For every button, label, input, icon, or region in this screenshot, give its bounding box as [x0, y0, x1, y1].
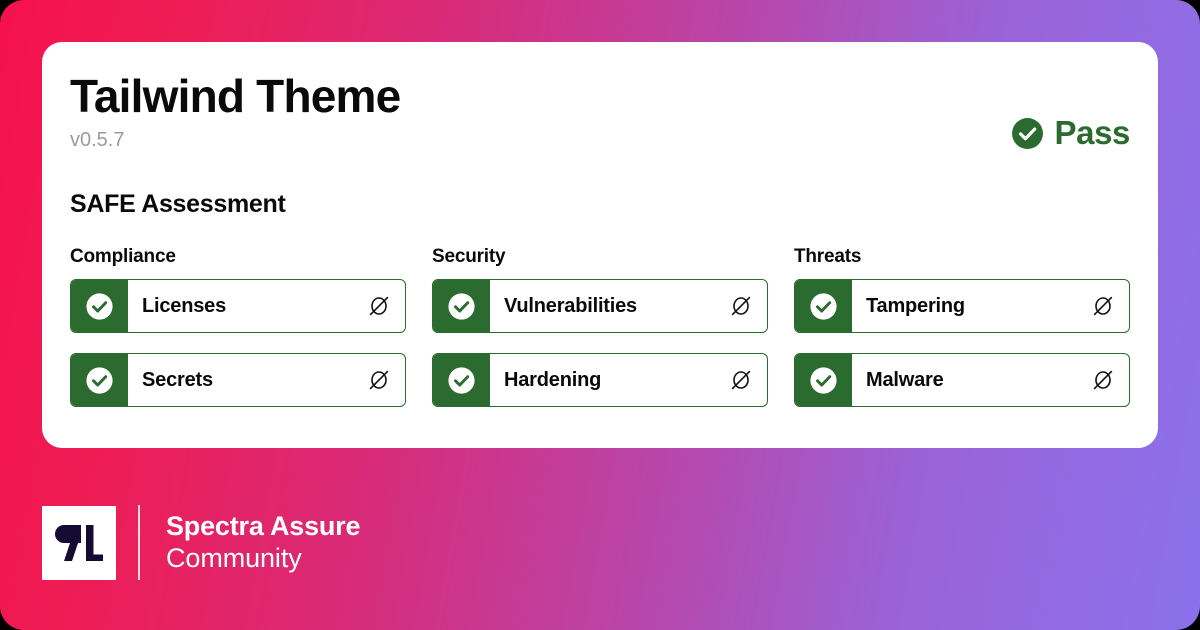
footer-brand: Spectra Assure Community	[166, 511, 360, 574]
row-body: Tampering	[852, 280, 1129, 332]
brand-name: Spectra Assure	[166, 511, 360, 542]
check-row[interactable]: Hardening	[432, 353, 768, 407]
check-row-label: Hardening	[504, 369, 601, 392]
banner-root: Tailwind Theme v0.5.7 Pass SAFE Assessme…	[0, 0, 1200, 630]
row-body: Hardening	[490, 354, 767, 406]
empty-set-icon	[1091, 368, 1115, 392]
status-badge-label: Pass	[1055, 114, 1130, 152]
check-row[interactable]: Vulnerabilities	[432, 279, 768, 333]
empty-set-icon	[729, 368, 753, 392]
empty-set-icon	[729, 294, 753, 318]
row-body: Vulnerabilities	[490, 280, 767, 332]
assessment-column-security: Security Vulnerabilities	[432, 246, 768, 407]
row-status-badge	[433, 354, 490, 406]
check-row[interactable]: Licenses	[70, 279, 406, 333]
footer-divider	[138, 505, 140, 580]
empty-set-icon	[367, 368, 391, 392]
row-status-badge	[795, 354, 852, 406]
card-header: Tailwind Theme v0.5.7 Pass	[70, 72, 1130, 184]
circle-check-icon	[446, 365, 477, 396]
row-status-badge	[71, 354, 128, 406]
assessment-column-compliance: Compliance Licenses	[70, 246, 406, 407]
assessment-column-threats: Threats Tampering	[794, 246, 1130, 407]
empty-set-icon	[367, 294, 391, 318]
check-row[interactable]: Malware	[794, 353, 1130, 407]
row-status-badge	[71, 280, 128, 332]
version-label: v0.5.7	[70, 129, 1130, 152]
brand-tier: Community	[166, 543, 360, 574]
column-header: Security	[432, 246, 768, 268]
check-row-label: Secrets	[142, 369, 213, 392]
circle-check-icon	[808, 365, 839, 396]
row-status-badge	[433, 280, 490, 332]
status-badge: Pass	[1011, 114, 1130, 152]
check-row-label: Licenses	[142, 295, 226, 318]
check-row-label: Malware	[866, 369, 944, 392]
page-title: Tailwind Theme	[70, 72, 1130, 122]
circle-check-icon	[84, 365, 115, 396]
footer: Spectra Assure Community	[42, 505, 360, 580]
section-title: SAFE Assessment	[70, 190, 1130, 219]
check-row[interactable]: Secrets	[70, 353, 406, 407]
row-body: Secrets	[128, 354, 405, 406]
check-row[interactable]: Tampering	[794, 279, 1130, 333]
column-header: Compliance	[70, 246, 406, 268]
column-header: Threats	[794, 246, 1130, 268]
row-body: Licenses	[128, 280, 405, 332]
empty-set-icon	[1091, 294, 1115, 318]
circle-check-icon	[808, 291, 839, 322]
check-row-label: Vulnerabilities	[504, 295, 637, 318]
circle-check-icon	[84, 291, 115, 322]
reversinglabs-rl-logo-icon	[42, 506, 116, 580]
circle-check-icon	[1011, 117, 1044, 150]
assessment-columns: Compliance Licenses	[70, 246, 1130, 407]
assessment-card: Tailwind Theme v0.5.7 Pass SAFE Assessme…	[42, 42, 1158, 448]
check-row-label: Tampering	[866, 295, 965, 318]
row-body: Malware	[852, 354, 1129, 406]
circle-check-icon	[446, 291, 477, 322]
row-status-badge	[795, 280, 852, 332]
